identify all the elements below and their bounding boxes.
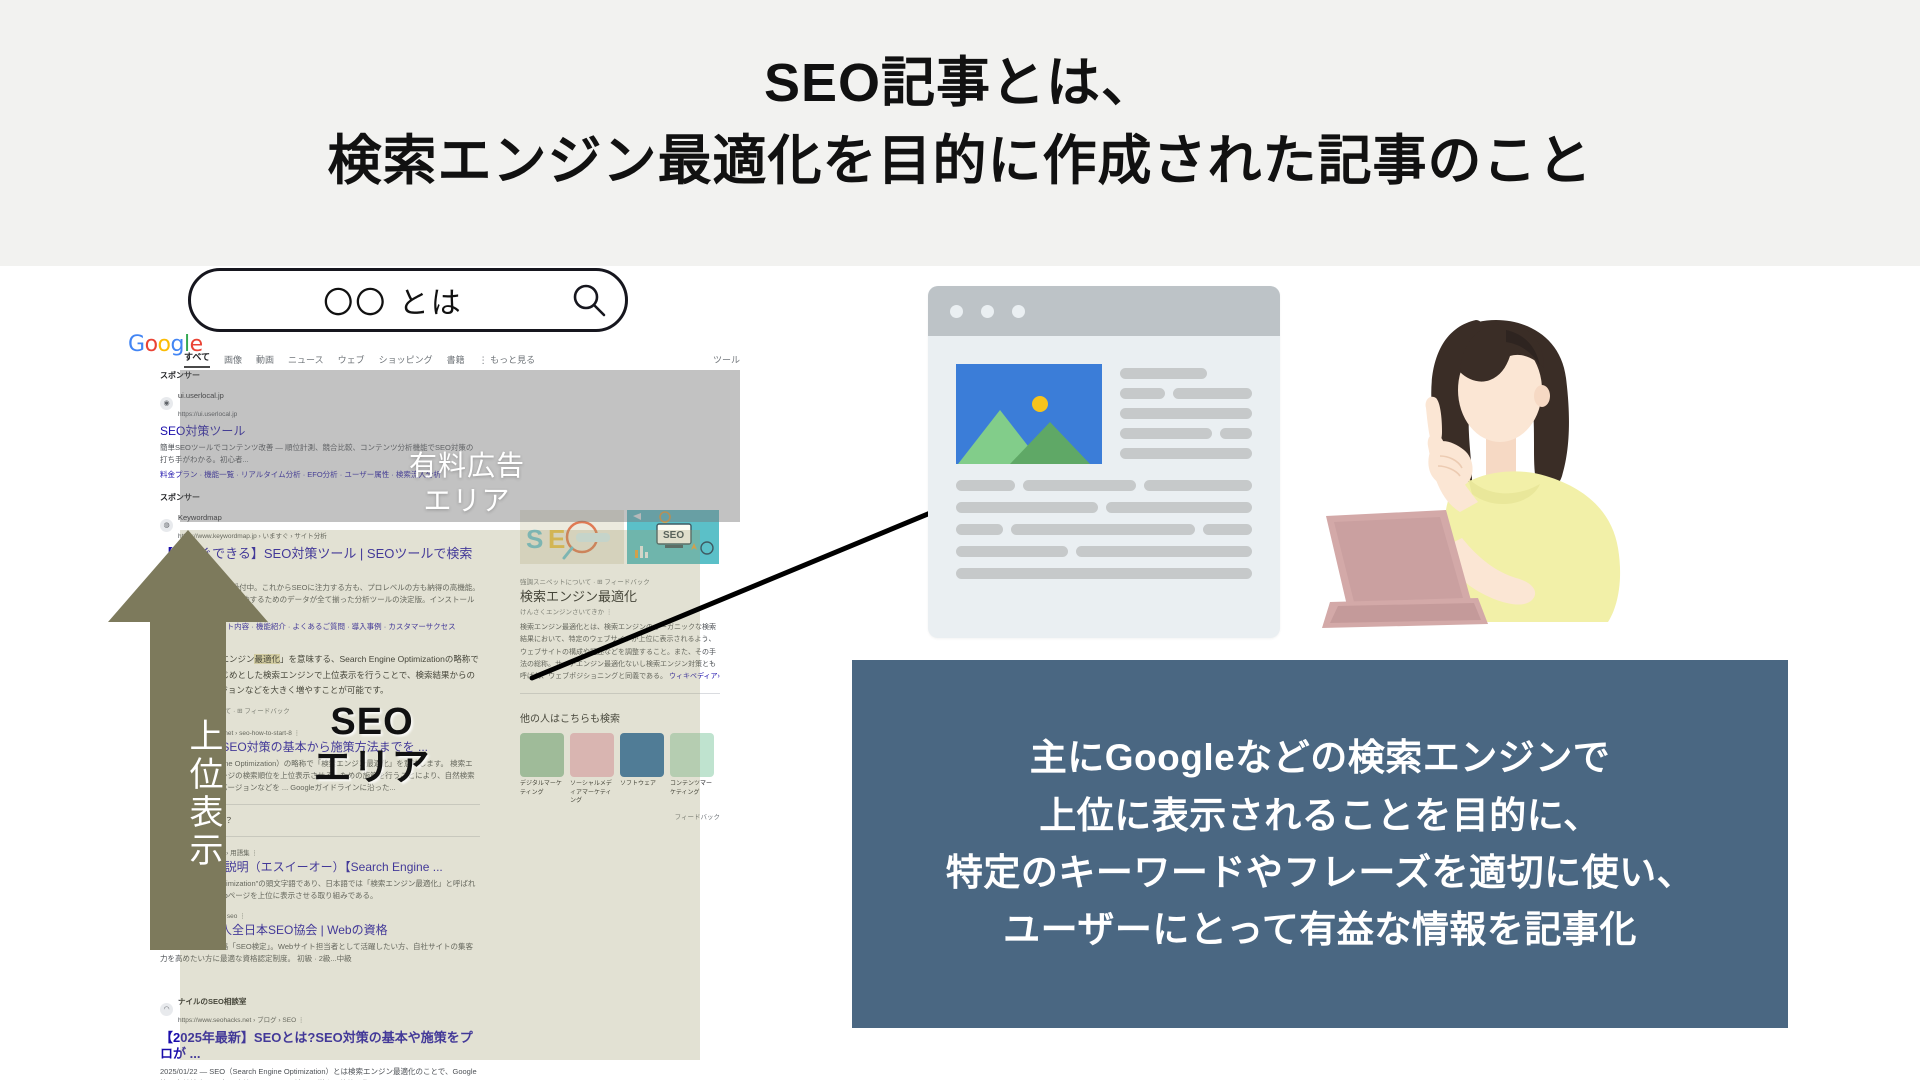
result4-description: 2025/01/22 — SEO（Search Engine Optimizat…	[160, 1066, 480, 1080]
description-callout-box: 主にGoogleなどの検索エンジンで 上位に表示されることを目的に、 特定のキー…	[852, 660, 1788, 1028]
tools-button[interactable]: ツール	[713, 353, 740, 366]
text-line-row	[956, 480, 1252, 491]
browser-dot-minimize[interactable]	[981, 305, 994, 318]
search-icon[interactable]	[569, 280, 609, 320]
browser-titlebar	[928, 286, 1280, 336]
page-title-line1: SEO記事とは、	[764, 53, 1156, 113]
text-line	[1120, 408, 1252, 419]
page-title-line2: 検索エンジン最適化を目的に作成された記事のこと	[0, 122, 1920, 200]
text-line	[1076, 546, 1252, 557]
article-top-block	[956, 364, 1252, 464]
text-line	[956, 502, 1098, 513]
tab-news[interactable]: ニュース	[288, 353, 324, 366]
caption-line-3: 特定のキーワードやフレーズを適切に使い、	[946, 844, 1694, 901]
rank-up-arrow-label: 上位表示	[186, 718, 228, 870]
text-line	[956, 546, 1068, 557]
tab-more[interactable]: ⋮ もっと見る	[479, 353, 536, 366]
article-body-lines	[956, 480, 1252, 579]
text-line	[956, 568, 1252, 579]
article-side-lines	[1120, 364, 1252, 464]
mountain-photo-placeholder	[956, 364, 1102, 464]
text-line	[1144, 480, 1252, 491]
page-title: SEO記事とは、 検索エンジン最適化を目的に作成された記事のこと	[0, 44, 1920, 201]
tab-books[interactable]: 書籍	[447, 353, 465, 366]
search-input[interactable]: 〇〇 とは	[217, 278, 569, 322]
seo-area-label: SEO エリア	[272, 700, 472, 791]
caption-line-2: 上位に表示されることを目的に、	[946, 787, 1694, 844]
seo-label-line2: エリア	[313, 747, 430, 789]
logo-char-G: G	[128, 332, 145, 357]
caption-line-1: 主にGoogleなどの検索エンジンで	[946, 729, 1694, 786]
tab-web[interactable]: ウェブ	[338, 353, 365, 366]
text-line	[1120, 388, 1165, 399]
text-line-row	[1120, 388, 1252, 399]
header-band: SEO記事とは、 検索エンジン最適化を目的に作成された記事のこと	[0, 0, 1920, 266]
nile-favicon: ◠	[160, 1003, 173, 1016]
tab-videos[interactable]: 動画	[256, 353, 274, 366]
text-line	[1011, 524, 1195, 535]
slide-canvas: SEO記事とは、 検索エンジン最適化を目的に作成された記事のこと Google …	[0, 0, 1920, 1080]
logo-char-o2: o	[158, 332, 171, 357]
text-line	[956, 480, 1015, 491]
tab-images[interactable]: 画像	[224, 353, 242, 366]
text-line	[1203, 524, 1252, 535]
text-line-row	[956, 502, 1252, 513]
text-line-row	[956, 524, 1252, 535]
text-line	[1023, 480, 1135, 491]
text-line-row	[956, 546, 1252, 557]
paid-ads-label-line2: エリア	[423, 485, 510, 516]
browser-dot-maximize[interactable]	[1012, 305, 1025, 318]
tab-all[interactable]: すべて	[184, 350, 210, 368]
text-line	[1120, 448, 1252, 459]
browser-content	[928, 336, 1280, 599]
seo-label-line1: SEO	[330, 701, 413, 743]
woman-pointing-illustration	[1300, 280, 1640, 630]
text-line	[956, 524, 1003, 535]
caption-line-4: ユーザーにとって有益な情報を記事化	[946, 901, 1694, 958]
userlocal-favicon: ◉	[160, 397, 173, 410]
article-page-mockup	[928, 286, 1280, 638]
text-line	[1120, 368, 1207, 379]
text-line	[1173, 388, 1252, 399]
serp-nav-tabs[interactable]: すべて 画像 動画 ニュース ウェブ ショッピング 書籍 ⋮ もっと見る ツール	[184, 348, 740, 370]
description-text: 主にGoogleなどの検索エンジンで 上位に表示されることを目的に、 特定のキー…	[946, 729, 1694, 958]
search-box[interactable]: 〇〇 とは	[188, 268, 628, 332]
text-line	[1120, 428, 1212, 439]
logo-char-o1: o	[145, 332, 158, 357]
text-line-row	[1120, 428, 1252, 439]
paid-ads-label-line1: 有料広告	[409, 450, 525, 481]
browser-dot-close[interactable]	[950, 305, 963, 318]
text-line	[1220, 428, 1252, 439]
logo-char-g: g	[171, 332, 184, 357]
tab-shopping[interactable]: ショッピング	[379, 353, 433, 366]
text-line	[1106, 502, 1252, 513]
